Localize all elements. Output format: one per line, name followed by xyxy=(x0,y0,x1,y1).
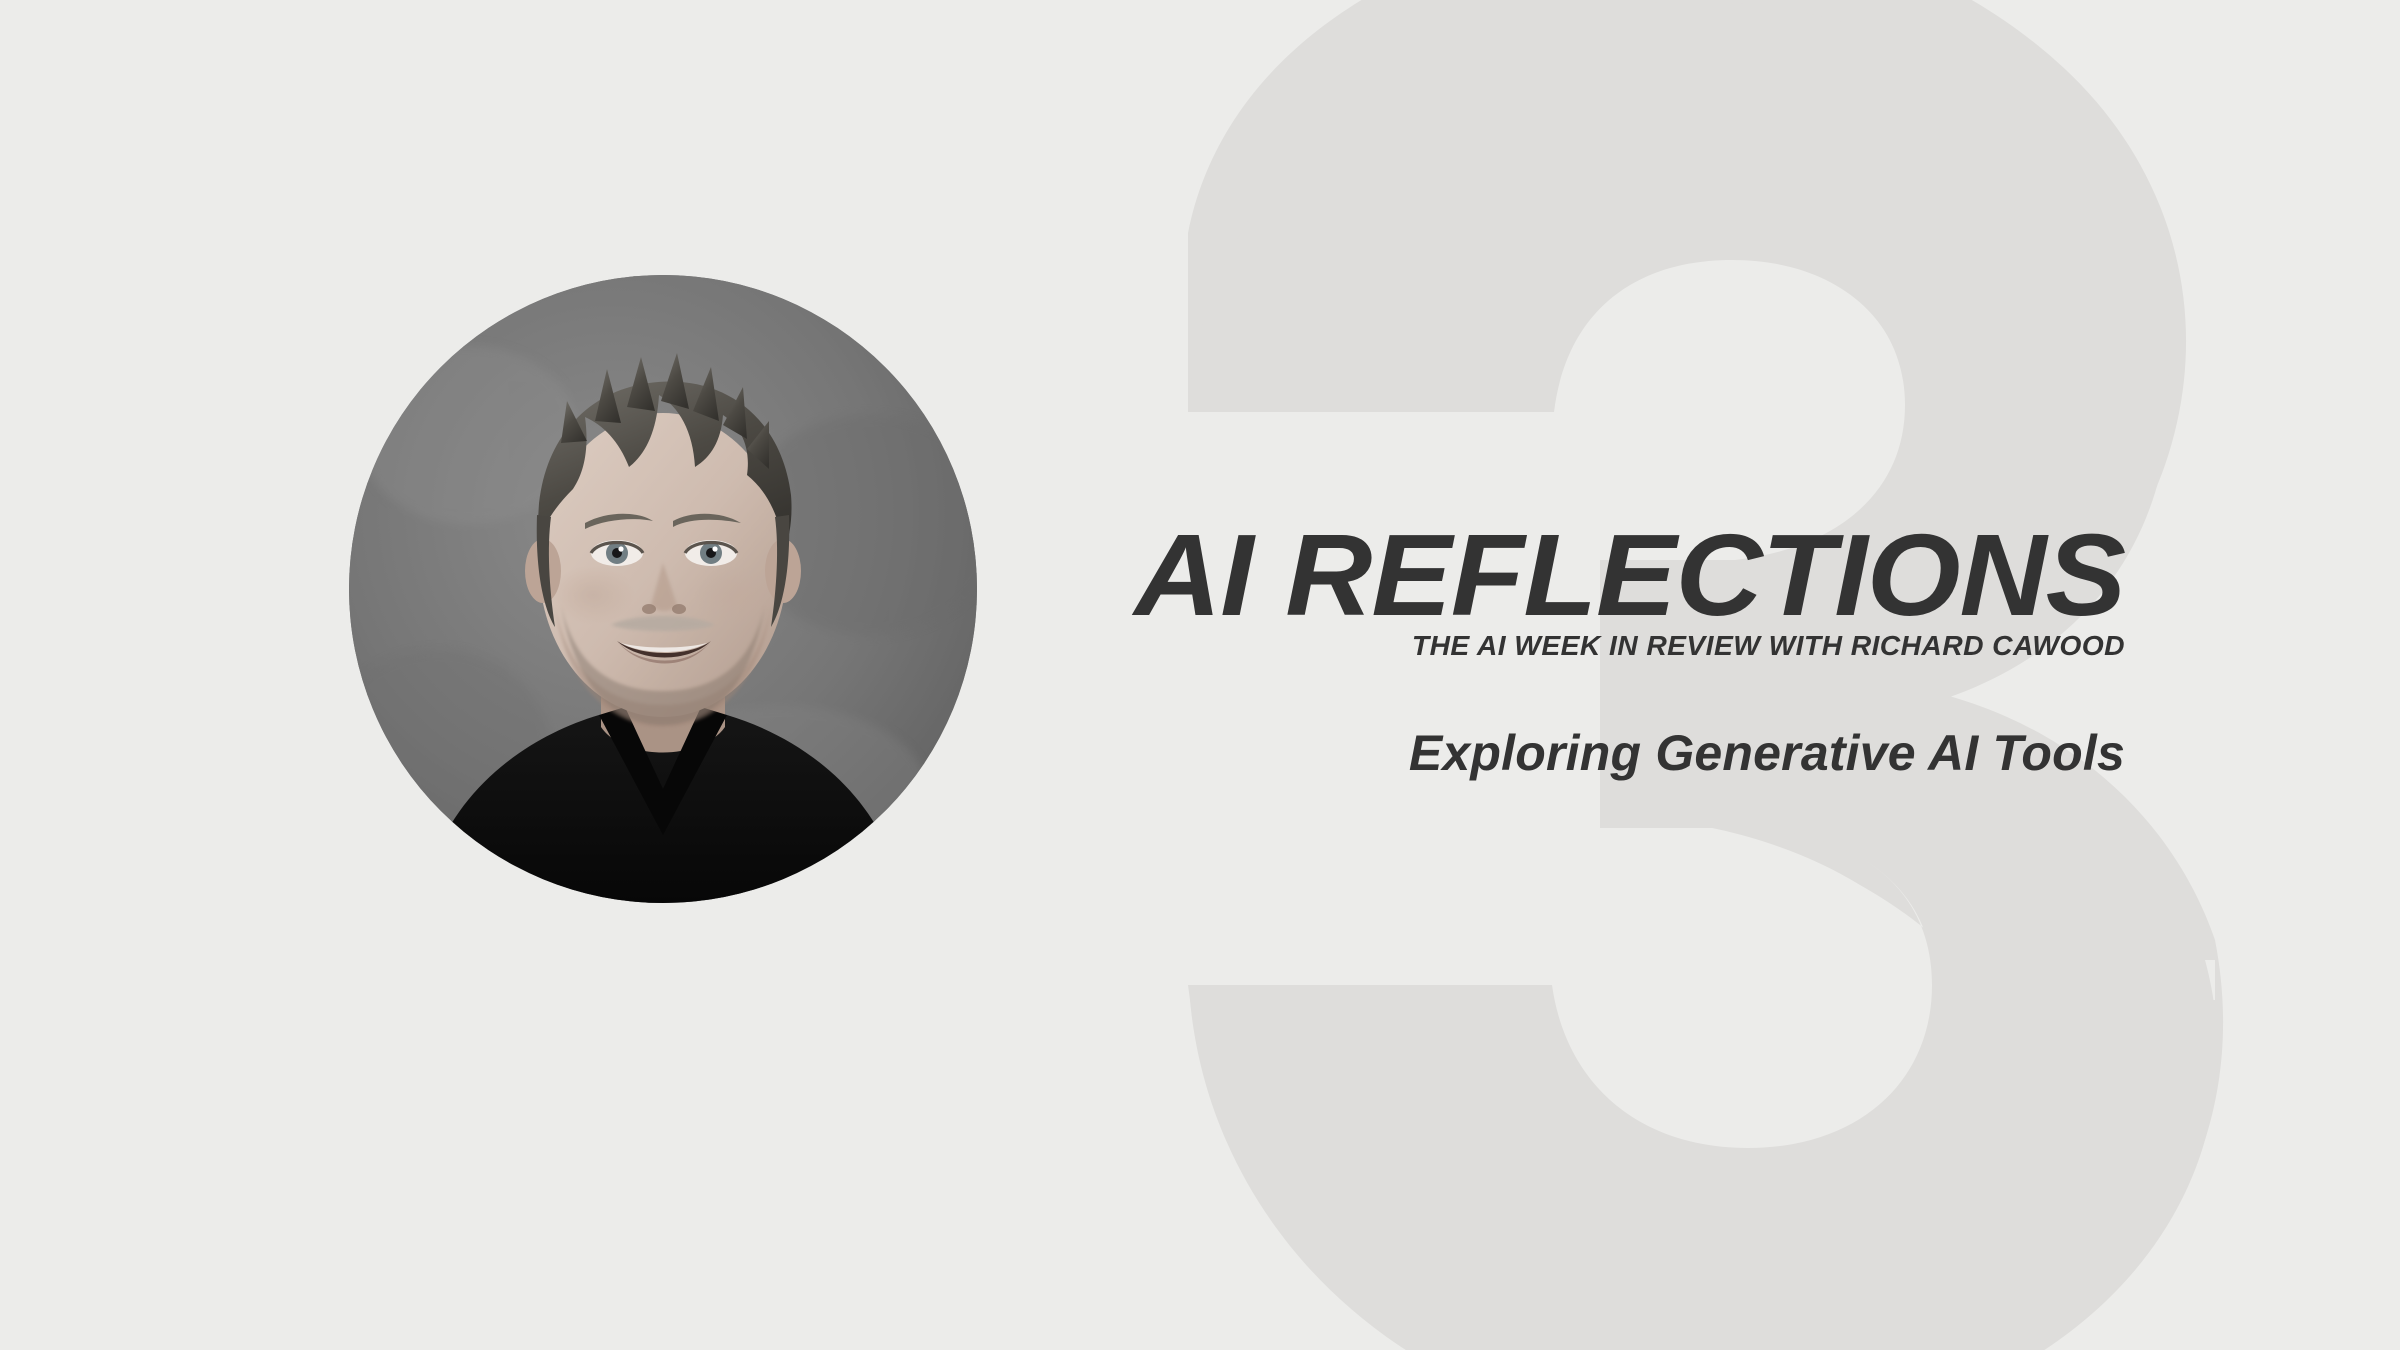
show-title-block: AI REFLECTIONS THE AI WEEK IN REVIEW WIT… xyxy=(1080,520,2125,660)
podcast-cover-canvas: AI REFLECTIONS THE AI WEEK IN REVIEW WIT… xyxy=(0,0,2400,1350)
episode-subtitle: Exploring Generative AI Tools xyxy=(1080,725,2125,783)
show-title: AI REFLECTIONS xyxy=(1038,520,2125,630)
background-numeral-3 xyxy=(0,0,2400,1350)
host-portrait-avatar xyxy=(349,275,977,903)
show-tagline: THE AI WEEK IN REVIEW WITH RICHARD CAWOO… xyxy=(1070,632,2125,660)
